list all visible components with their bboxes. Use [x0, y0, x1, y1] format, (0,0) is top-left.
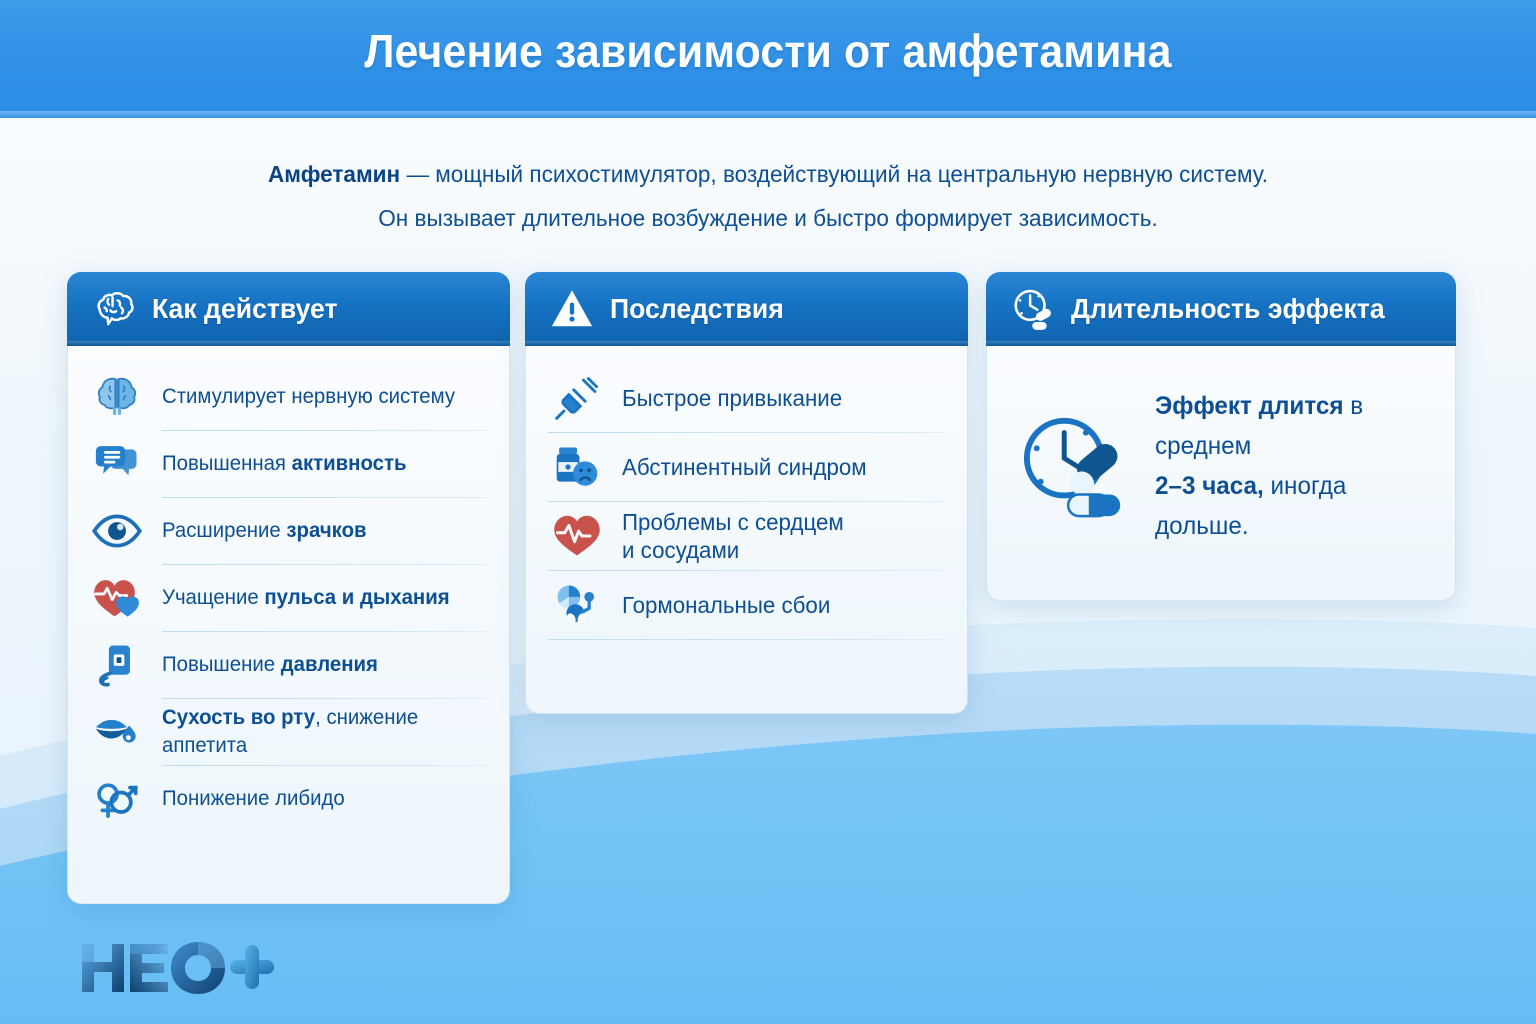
list-item: Сухость во рту, снижение аппетита	[88, 699, 487, 765]
list-item-label: Абстинентный синдром	[622, 453, 867, 481]
card-consequences-title: Последствия	[610, 293, 784, 325]
list-item: Проблемы с сердцем и сосудами	[548, 502, 945, 570]
gender-icon	[88, 771, 146, 827]
clock-pills-icon	[1010, 286, 1056, 332]
intro-line-1: Амфетамин — мощный психостимулятор, возд…	[31, 152, 1506, 196]
list-item: Абстинентный синдром	[548, 433, 945, 501]
intro-paragraph: Амфетамин — мощный психостимулятор, возд…	[31, 152, 1506, 240]
duration-line-1: Эффект длится в среднем	[1155, 386, 1419, 466]
brain-icon	[91, 286, 137, 332]
neo-plus-logo[interactable]: НЕО+	[78, 938, 278, 1000]
speech-bubbles-icon	[88, 436, 146, 492]
card-how-body: Стимулирует нервную систему Повышенная а…	[67, 346, 510, 904]
list-item-label: Гормональные сбои	[622, 591, 830, 619]
list-item-label: Понижение либидо	[162, 785, 345, 813]
card-consequences-header: Последствия	[525, 272, 968, 346]
list-item: Повышение давления	[88, 632, 487, 698]
card-duration-text: Эффект длится в среднем 2–3 часа, иногда…	[1155, 386, 1419, 546]
list-item: Быстрое привыкание	[548, 364, 945, 432]
warning-triangle-icon	[549, 286, 595, 332]
card-consequences-body: Быстрое привыкание Абстинентный синдром	[525, 346, 968, 714]
card-how-title: Как действует	[152, 293, 338, 325]
card-how-it-works: Как действует Стимулирует нервную систем…	[67, 272, 510, 904]
brain-icon	[88, 369, 146, 425]
card-duration-body: Эффект длится в среднем 2–3 часа, иногда…	[986, 346, 1456, 601]
card-duration: Длительность эффекта Эффект длится в сре…	[986, 272, 1456, 601]
duration-line-2: 2–3 часа, иногда дольше.	[1155, 466, 1419, 546]
hormones-icon	[548, 577, 606, 633]
list-item-label: Повышение давления	[162, 651, 378, 679]
list-item-label: Сухость во рту, снижение аппетита	[162, 704, 477, 760]
list-item-label: Расширение зрачков	[162, 517, 367, 545]
list-item-label: Учащение пульса и дыхания	[162, 584, 450, 612]
eye-icon	[88, 503, 146, 559]
list-item: Повышенная активность	[88, 431, 487, 497]
list-item: Понижение либидо	[88, 766, 487, 832]
list-item-label: Быстрое привыкание	[622, 384, 842, 412]
list-item: Стимулирует нервную систему	[88, 364, 487, 430]
dry-mouth-icon	[88, 704, 146, 760]
card-how-header: Как действует	[67, 272, 510, 346]
list-item: Учащение пульса и дыхания	[88, 565, 487, 631]
intro-term: Амфетамин	[268, 161, 400, 187]
heart-pulse-icon	[548, 508, 606, 564]
card-consequences: Последствия Быстрое привыкание	[525, 272, 968, 714]
page-title: Лечение зависимости от амфетамина	[54, 24, 1482, 78]
list-item: Расширение зрачков	[88, 498, 487, 564]
card-duration-title: Длительность эффекта	[1071, 293, 1385, 325]
card-duration-header: Длительность эффекта	[986, 272, 1456, 346]
clock-pills-large-icon	[1017, 411, 1137, 521]
syringe-icon	[548, 370, 606, 426]
list-item-label: Стимулирует нервную систему	[162, 383, 455, 411]
divider	[548, 639, 945, 640]
list-item: Гормональные сбои	[548, 571, 945, 639]
list-item-label: Проблемы с сердцем и сосудами	[622, 508, 844, 564]
heartbeat-icon	[88, 570, 146, 626]
list-item-label: Повышенная активность	[162, 450, 406, 478]
blood-pressure-icon	[88, 637, 146, 693]
intro-line-1-rest: — мощный психостимулятор, воздействующий…	[400, 161, 1268, 187]
intro-line-2: Он вызывает длительное возбуждение и быс…	[31, 196, 1506, 240]
pill-bottle-sad-icon	[548, 439, 606, 495]
